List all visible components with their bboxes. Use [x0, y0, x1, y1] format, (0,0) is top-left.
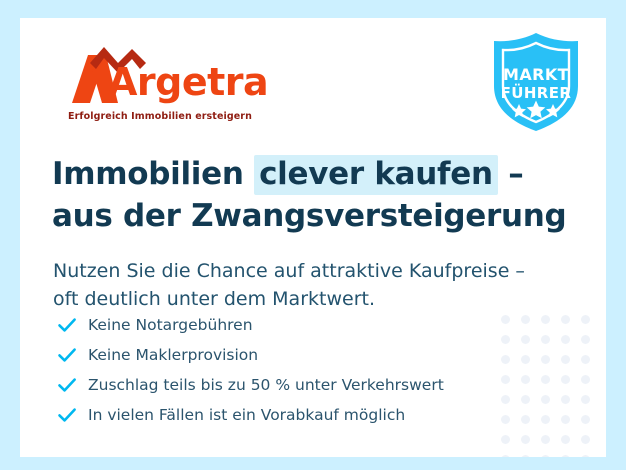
decorative-dot	[541, 335, 550, 344]
decorative-dot	[561, 395, 570, 404]
banner-card: Argetra Erfolgreich Immobilien ersteiger…	[20, 18, 606, 457]
headline-line-1: Immobilien clever kaufen –	[52, 155, 566, 195]
decorative-dot	[521, 415, 530, 424]
decorative-dot	[501, 335, 510, 344]
promo-banner: Argetra Erfolgreich Immobilien ersteiger…	[0, 0, 626, 470]
decorative-dot	[521, 395, 530, 404]
decorative-dot	[521, 435, 530, 444]
argetra-logo[interactable]: Argetra Erfolgreich Immobilien ersteiger…	[60, 45, 260, 130]
badge-line-1: MARKT	[503, 65, 569, 84]
decorative-dot	[561, 335, 570, 344]
market-leader-badge: MARKT FÜHRER	[488, 30, 584, 134]
check-mark-icon	[54, 372, 80, 398]
decorative-dot	[541, 355, 550, 364]
list-item-label: Keine Maklerprovision	[88, 346, 258, 364]
headline-line-2: aus der Zwangsversteigerung	[52, 197, 566, 237]
decorative-dot	[581, 415, 590, 424]
decorative-dot	[541, 315, 550, 324]
headline-highlight: clever kaufen	[254, 155, 498, 195]
decorative-dot	[501, 375, 510, 384]
list-item: In vielen Fällen ist ein Vorabkauf mögli…	[54, 400, 444, 430]
decorative-dot	[541, 395, 550, 404]
decorative-dot	[501, 415, 510, 424]
decorative-dot	[521, 455, 530, 457]
decorative-dot	[501, 315, 510, 324]
decorative-dot	[561, 355, 570, 364]
list-item-label: In vielen Fällen ist ein Vorabkauf mögli…	[88, 406, 405, 424]
decorative-dot	[581, 435, 590, 444]
decorative-dot	[501, 435, 510, 444]
headline: Immobilien clever kaufen – aus der Zwang…	[52, 155, 566, 237]
decorative-dot	[521, 335, 530, 344]
subheadline: Nutzen Sie die Chance auf attraktive Kau…	[53, 258, 525, 314]
decorative-dot	[541, 375, 550, 384]
decorative-dot-grid	[496, 310, 596, 457]
decorative-dot	[541, 455, 550, 457]
decorative-dot	[561, 415, 570, 424]
decorative-dot	[581, 355, 590, 364]
logo-wordmark: Argetra	[108, 63, 268, 101]
list-item-label: Keine Notargebühren	[88, 316, 253, 334]
decorative-dot	[561, 435, 570, 444]
list-item: Zuschlag teils bis zu 50 % unter Verkehr…	[54, 370, 444, 400]
shield-badge-icon: MARKT FÜHRER	[488, 30, 584, 134]
check-mark-icon	[54, 402, 80, 428]
decorative-dot	[501, 455, 510, 457]
decorative-dot	[581, 455, 590, 457]
decorative-dot	[581, 335, 590, 344]
logo-tagline: Erfolgreich Immobilien ersteigern	[68, 111, 252, 122]
decorative-dot	[581, 395, 590, 404]
decorative-dot	[581, 375, 590, 384]
subheadline-line-1: Nutzen Sie die Chance auf attraktive Kau…	[53, 258, 525, 286]
decorative-dot	[541, 435, 550, 444]
headline-text-before: Immobilien	[52, 156, 254, 192]
decorative-dot	[581, 315, 590, 324]
decorative-dot	[521, 355, 530, 364]
decorative-dot	[561, 455, 570, 457]
decorative-dot	[501, 395, 510, 404]
decorative-dot	[561, 375, 570, 384]
check-mark-icon	[54, 342, 80, 368]
decorative-dot	[501, 355, 510, 364]
decorative-dot	[541, 415, 550, 424]
badge-line-2: FÜHRER	[501, 83, 572, 102]
list-item-label: Zuschlag teils bis zu 50 % unter Verkehr…	[88, 376, 444, 394]
decorative-dot	[521, 315, 530, 324]
headline-text-after: –	[498, 156, 524, 192]
list-item: Keine Maklerprovision	[54, 340, 444, 370]
benefits-checklist: Keine NotargebührenKeine Maklerprovision…	[54, 310, 444, 430]
decorative-dot	[561, 315, 570, 324]
list-item: Keine Notargebühren	[54, 310, 444, 340]
check-mark-icon	[54, 312, 80, 338]
decorative-dot	[521, 375, 530, 384]
